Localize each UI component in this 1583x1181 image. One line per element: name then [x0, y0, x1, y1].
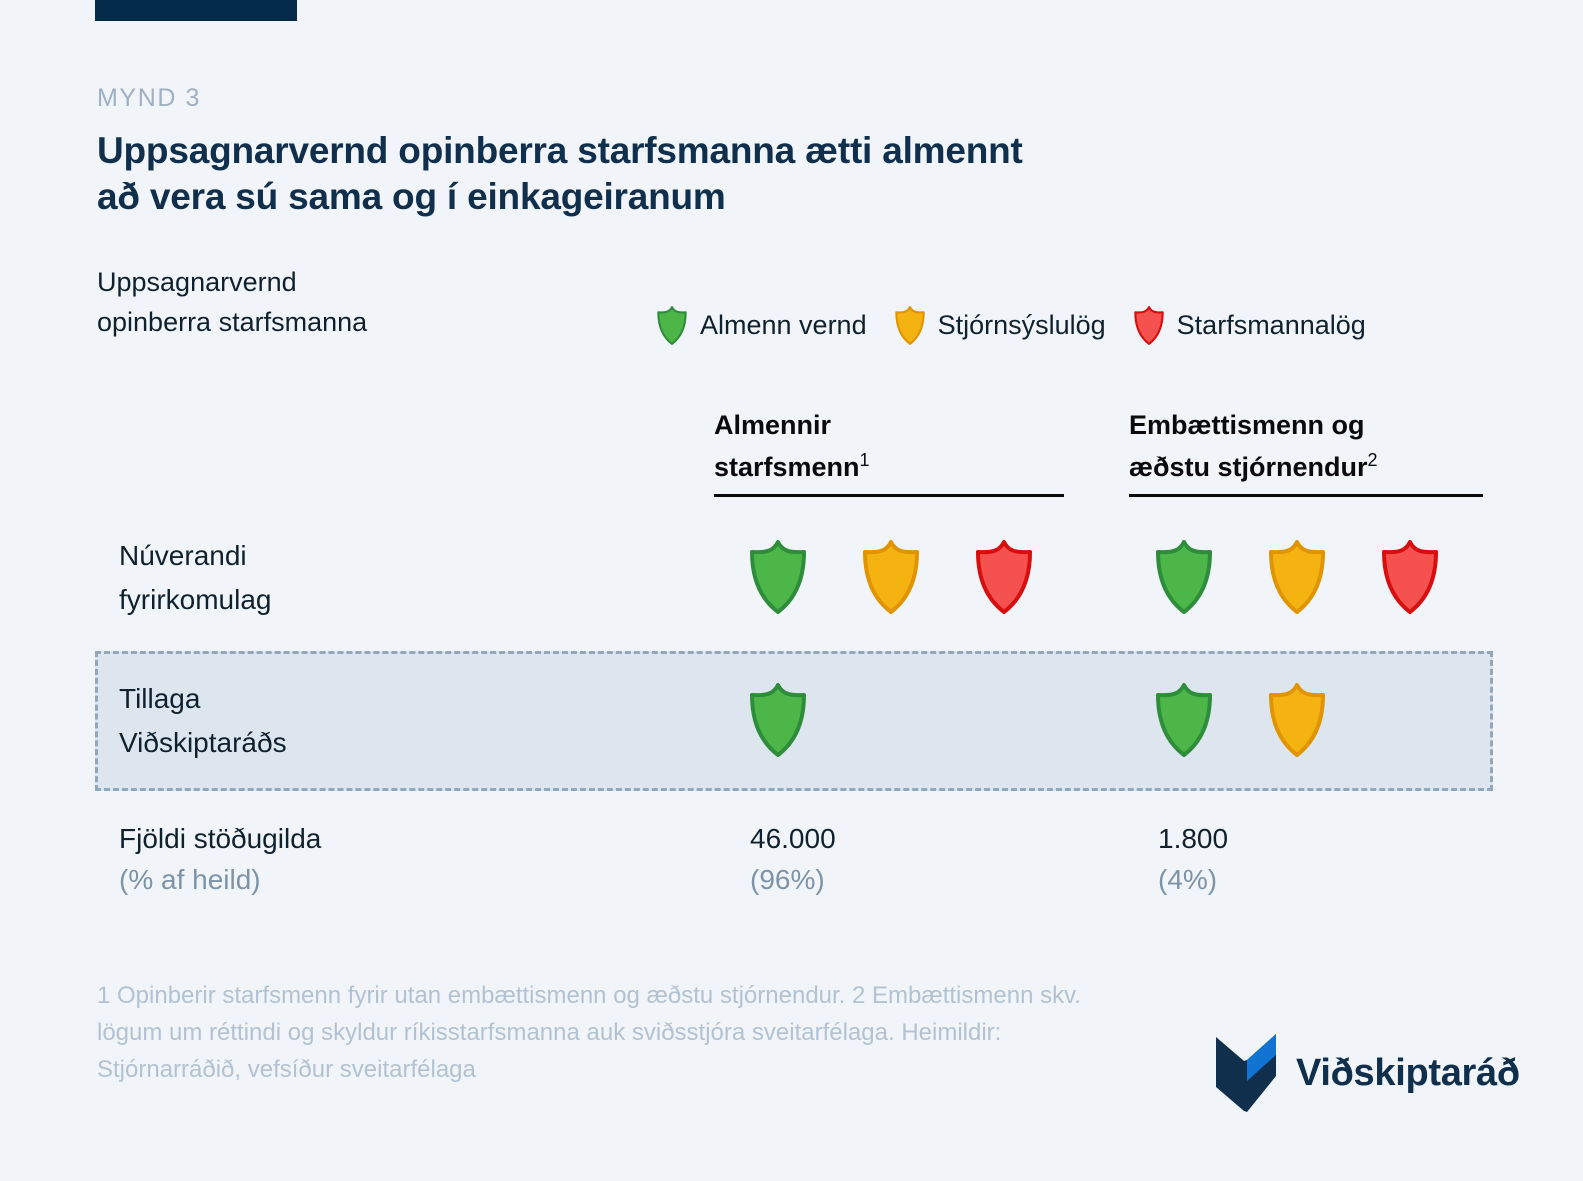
- shield-icon: [746, 538, 810, 616]
- shield-icon: [1378, 538, 1442, 616]
- row-label-tillaga-vidskiptarads: Tillaga Viðskiptaráðs: [119, 677, 287, 765]
- shield-icon: [655, 305, 689, 346]
- legend-item-almenn-vernd: Almenn vernd: [655, 305, 867, 346]
- legend-label: Stjórnsýslulög: [938, 310, 1106, 341]
- leaf-icon: [1214, 1029, 1280, 1118]
- logo-wordmark: Viðskiptaráð: [1296, 1052, 1520, 1095]
- figure-subtitle: Uppsagnarvernd opinberra starfsmanna: [97, 262, 367, 342]
- shield-icon: [859, 538, 923, 616]
- column-header-line-1: Embættismenn og: [1129, 410, 1365, 440]
- row-label-line-2: Viðskiptaráðs: [119, 721, 287, 765]
- shield-icon: [1265, 681, 1329, 759]
- column-header-embaettismenn: Embættismenn og æðstu stjórnendur2: [1129, 408, 1483, 497]
- legend-label: Starfsmannalög: [1177, 310, 1366, 341]
- shield-icon: [1152, 681, 1216, 759]
- page-title-line-1: Uppsagnarvernd opinberra starfsmanna ætt…: [97, 130, 1023, 171]
- row-label-line-1: Núverandi: [119, 534, 271, 578]
- figure-subtitle-line-1: Uppsagnarvernd: [97, 262, 367, 302]
- totals-label-secondary: (% af heild): [119, 859, 321, 900]
- page-title-line-2: að vera sú sama og í einkageiranum: [97, 174, 1347, 220]
- shield-icon: [1132, 305, 1166, 346]
- footnote-text: 1 Opinberir starfsmenn fyrir utan embætt…: [97, 977, 1127, 1088]
- legend: Almenn vernd Stjórnsýslulög Starfsmannal…: [655, 305, 1366, 346]
- totals-share: (4%): [1158, 859, 1228, 900]
- legend-item-stjornsysluloeg: Stjórnsýslulög: [893, 305, 1106, 346]
- shield-icon: [1265, 538, 1329, 616]
- brand-logo: Viðskiptaráð: [1214, 1029, 1520, 1118]
- column-header-line-1: Almennir: [714, 410, 831, 440]
- legend-item-starfsmannaloeg: Starfsmannalög: [1132, 305, 1366, 346]
- shield-icon: [1152, 538, 1216, 616]
- page-title: Uppsagnarvernd opinberra starfsmanna ætt…: [97, 128, 1347, 220]
- column-header-line-2: starfsmenn: [714, 452, 860, 482]
- totals-label: Fjöldi stöðugilda (% af heild): [119, 818, 321, 900]
- totals-value: 1.800: [1158, 818, 1228, 859]
- row-label-nuverandi-fyrirkomulag: Núverandi fyrirkomulag: [119, 534, 271, 622]
- legend-label: Almenn vernd: [700, 310, 867, 341]
- totals-label-primary: Fjöldi stöðugilda: [119, 818, 321, 859]
- shield-icon: [893, 305, 927, 346]
- figure-canvas: MYND 3 Uppsagnarvernd opinberra starfsma…: [0, 0, 1583, 1181]
- row-label-line-2: fyrirkomulag: [119, 578, 271, 622]
- figure-subtitle-line-2: opinberra starfsmanna: [97, 302, 367, 342]
- shield-icon: [972, 538, 1036, 616]
- footnote-marker: 1: [860, 450, 870, 470]
- column-header-line-2: æðstu stjórnendur: [1129, 452, 1368, 482]
- footnote-marker: 2: [1368, 450, 1378, 470]
- totals-column-2: 1.800 (4%): [1158, 818, 1228, 900]
- shield-icon: [746, 681, 810, 759]
- figure-kicker: MYND 3: [97, 84, 201, 113]
- column-header-almennir-starfsmenn: Almennir starfsmenn1: [714, 408, 1064, 497]
- totals-column-1: 46.000 (96%): [750, 818, 836, 900]
- accent-bar: [95, 0, 297, 21]
- row-label-line-1: Tillaga: [119, 677, 287, 721]
- totals-value: 46.000: [750, 818, 836, 859]
- totals-share: (96%): [750, 859, 836, 900]
